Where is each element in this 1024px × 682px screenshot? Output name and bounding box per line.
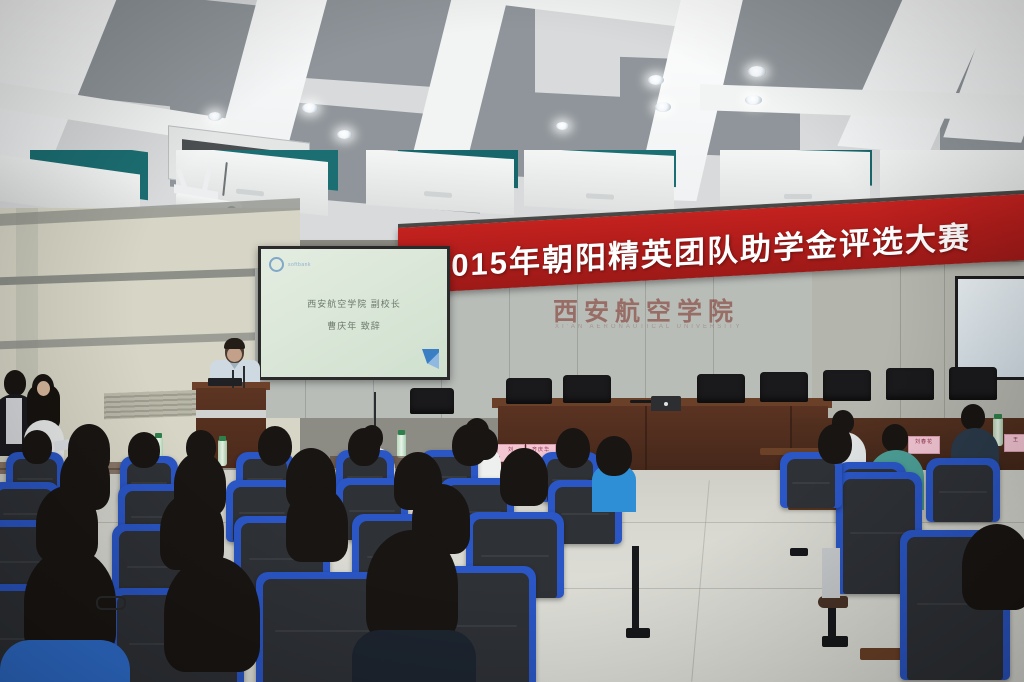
- podium-trim-band: [196, 410, 266, 418]
- main-projection-screen: softbank 西安航空学院 副校长 曹庆年 致辞: [258, 246, 450, 380]
- audience-head: [258, 426, 292, 466]
- name-card-label: 刘春花: [909, 437, 939, 445]
- stage-chair: [563, 375, 611, 403]
- audience-head: [962, 524, 1024, 610]
- audience-head: [164, 556, 260, 672]
- bottle-cap: [398, 430, 405, 435]
- secondary-screen-surface: [958, 279, 1024, 377]
- seat-floor-mount: [790, 548, 808, 556]
- name-card: 王: [1004, 434, 1024, 452]
- audience-head: [128, 432, 160, 468]
- audience-head: [596, 436, 632, 476]
- stage-chair: [823, 370, 871, 401]
- audience-shirt: [352, 630, 476, 682]
- projection-screen-surface: softbank 西安航空学院 副校长 曹庆年 致辞: [261, 249, 447, 377]
- audience-head: [556, 428, 590, 468]
- ceiling-downlight: [655, 102, 671, 112]
- ceiling-downlight: [302, 103, 318, 113]
- audience-head: [818, 424, 852, 464]
- soffit-box: [524, 150, 674, 214]
- slide-logo: softbank: [269, 257, 311, 272]
- stage-chair: [410, 388, 454, 414]
- stage-chair: [886, 368, 934, 400]
- person-head: [4, 370, 26, 396]
- audience-shirt: [0, 640, 130, 682]
- audience-head: [22, 430, 52, 464]
- speaker-face: [227, 347, 242, 362]
- slide-line-2: 曹庆年 致辞: [261, 319, 447, 332]
- person-head: [882, 424, 908, 452]
- person-head: [961, 404, 985, 430]
- ceiling-downlight: [337, 130, 352, 139]
- ceiling-downlight: [208, 112, 222, 121]
- stage-microphone: [630, 400, 652, 403]
- name-card: 刘春花: [908, 436, 940, 454]
- podium-microphone: [243, 366, 245, 388]
- soffit-box: [366, 150, 514, 215]
- audience-glasses-icon: [96, 596, 126, 610]
- floor-tile-seam: [691, 480, 710, 681]
- stage-chair: [949, 367, 997, 400]
- seat-back-pad: [787, 459, 835, 508]
- audience-head: [500, 448, 548, 506]
- audience-head: [366, 530, 458, 642]
- laptop-logo-icon: [664, 402, 668, 406]
- stage-chair: [760, 372, 808, 402]
- water-bottle: [397, 434, 406, 458]
- auditorium-photo: 西安航空学院 XI'AN AERONAUTICAL UNIVERSITY 201…: [0, 0, 1024, 682]
- seat-back-pad: [933, 465, 993, 522]
- bottle-cap: [219, 436, 226, 441]
- podium-laptop: [208, 378, 242, 386]
- projector-cable: [222, 162, 228, 196]
- audience-head: [470, 428, 498, 460]
- name-card-label: 王: [1005, 435, 1024, 443]
- right-wall-seam: [944, 262, 945, 422]
- ceiling-downlight: [745, 95, 762, 105]
- slide-corner-mark-icon: [422, 349, 439, 369]
- wall-panel-seam: [645, 268, 646, 418]
- person-shirt: [6, 398, 22, 444]
- secondary-projection-screen: [955, 276, 1024, 380]
- ceiling-downlight: [648, 75, 664, 85]
- slide-line-1: 西安航空学院 副校长: [261, 297, 447, 310]
- auditorium-seat[interactable]: [926, 458, 1000, 522]
- wall-calligraphy: 西安航空学院: [553, 292, 739, 328]
- stage-chair: [506, 378, 552, 404]
- bottle-cap: [994, 414, 1002, 419]
- speaker-hair: [224, 338, 245, 349]
- wall-calligraphy-subtitle: XI'AN AERONAUTICAL UNIVERSITY: [555, 324, 743, 330]
- person-face: [37, 381, 50, 396]
- person-trousers: [822, 548, 840, 598]
- seat-leg: [632, 546, 639, 630]
- ceiling-downlight: [556, 122, 569, 130]
- stage-chair: [697, 374, 745, 403]
- ceiling-downlight: [748, 66, 766, 77]
- slide-logo-ring-icon: [269, 257, 284, 272]
- slide-logo-text: softbank: [288, 262, 311, 268]
- soffit-light-slot: [784, 194, 812, 199]
- audience-head: [348, 428, 380, 466]
- audience-head: [286, 486, 348, 562]
